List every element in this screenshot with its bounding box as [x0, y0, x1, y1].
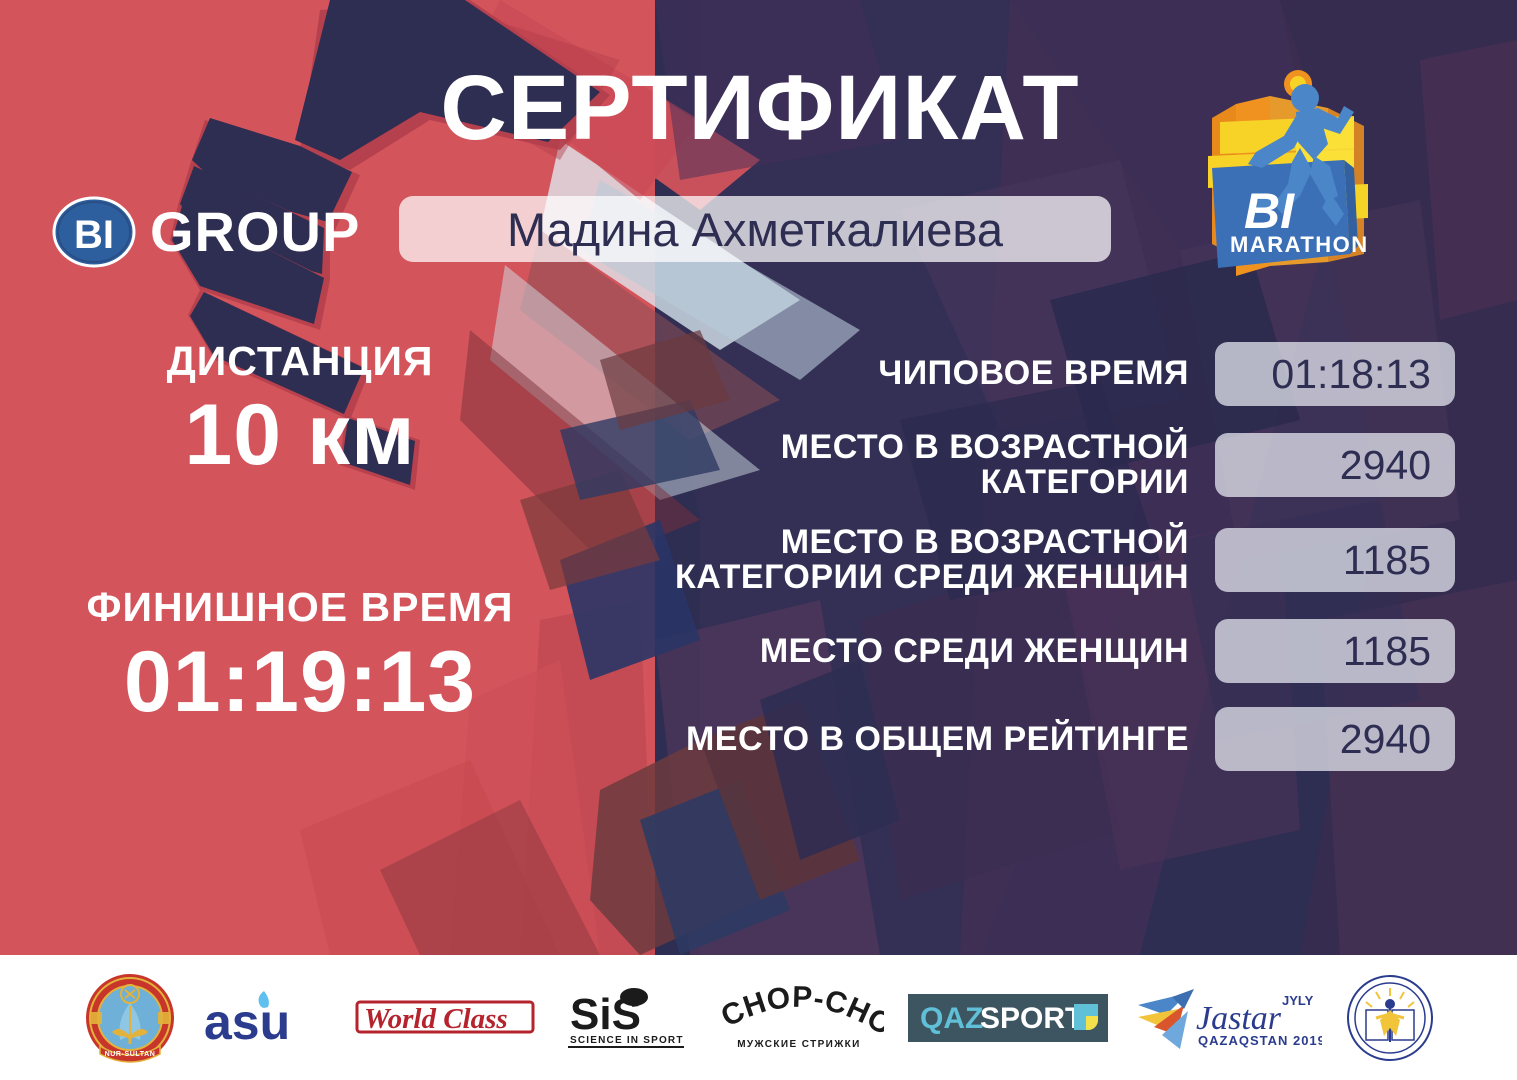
ministry-emblem-icon: [1346, 974, 1434, 1062]
sponsor-sis: SiS SCIENCE IN SPORT: [562, 985, 690, 1051]
chip-time-pill: 01:18:13: [1215, 342, 1455, 406]
chip-time-label: ЧИПОВОЕ ВРЕМЯ: [600, 356, 1189, 391]
marathon-logo-word: MARATHON: [1230, 232, 1369, 257]
distance-value: 10 км: [60, 389, 540, 482]
asu-logo-icon: asu: [200, 985, 328, 1051]
chop-chop-logo-icon: CHOP-CHOP МУЖСКИЕ СТРИЖКИ: [714, 985, 884, 1051]
marathon-logo-bi: BI: [1244, 183, 1295, 239]
chop-chop-sublabel: МУЖСКИЕ СТРИЖКИ: [737, 1039, 861, 1050]
age-category-women-place-label: МЕСТО В ВОЗРАСТНОЙ КАТЕГОРИИ СРЕДИ ЖЕНЩИ…: [600, 525, 1189, 596]
women-place-label: МЕСТО СРЕДИ ЖЕНЩИН: [600, 634, 1189, 669]
age-category-place-value: 2940: [1340, 445, 1431, 486]
finish-time-label: ФИНИШНОЕ ВРЕМЯ: [60, 586, 540, 629]
sponsor-world-class: World Class: [352, 989, 538, 1047]
right-stats-column: ЧИПОВОЕ ВРЕМЯ 01:18:13 МЕСТО В ВОЗРАСТНО…: [600, 342, 1455, 771]
certificate-title: СЕРТИФИКАТ: [390, 62, 1130, 154]
qazsport-qaz: QAZ: [920, 1002, 983, 1035]
sponsor-jastar-jyly: Jastar JYLY QAZAQSTAN 2019: [1132, 983, 1322, 1053]
qazsport-logo-icon: QAZ SPORT: [908, 994, 1108, 1042]
left-stat-distance: ДИСТАНЦИЯ 10 км: [60, 340, 540, 482]
chip-time-value: 01:18:13: [1271, 354, 1431, 395]
jastar-sublabel: QAZAQSTAN 2019: [1198, 1033, 1322, 1048]
sponsor-footer: NUR-SULTAN asu World Class SiS SCIENCE I…: [0, 955, 1517, 1080]
sponsor-asu: asu: [200, 985, 328, 1051]
svg-text:BI: BI: [74, 213, 114, 257]
overall-place-value: 2940: [1340, 719, 1431, 760]
left-stats-column: ДИСТАНЦИЯ 10 км ФИНИШНОЕ ВРЕМЯ 01:19:13: [60, 340, 540, 729]
women-place-pill: 1185: [1215, 619, 1455, 683]
sis-sublabel: SCIENCE IN SPORT: [570, 1035, 684, 1046]
sis-wordmark: SiS: [570, 990, 641, 1039]
age-category-women-place-pill: 1185: [1215, 528, 1455, 592]
women-place-value: 1185: [1343, 631, 1431, 672]
sponsor-nur-sultan-emblem: NUR-SULTAN: [84, 972, 176, 1064]
bi-group-wordmark: GROUP: [150, 204, 360, 260]
nur-sultan-label: NUR-SULTAN: [104, 1051, 155, 1058]
sis-logo-icon: SiS SCIENCE IN SPORT: [562, 985, 690, 1051]
certificate-canvas: BI GROUP СЕРТИФИКАТ Мадина Ахметкалиева: [0, 0, 1517, 1080]
world-class-logo-icon: World Class: [352, 989, 538, 1047]
jastar-wordmark: Jastar: [1196, 1000, 1282, 1037]
bi-group-mark-icon: BI: [52, 196, 136, 268]
jyly-superlabel: JYLY: [1282, 993, 1314, 1008]
overall-place-pill: 2940: [1215, 707, 1455, 771]
qazsport-sport: SPORT: [980, 1002, 1083, 1035]
overall-place-label: МЕСТО В ОБЩЕМ РЕЙТИНГЕ: [600, 722, 1189, 757]
sponsor-chop-chop: CHOP-CHOP МУЖСКИЕ СТРИЖКИ: [714, 985, 884, 1051]
bi-group-logo: BI GROUP: [52, 196, 360, 268]
stat-row-women-place: МЕСТО СРЕДИ ЖЕНЩИН 1185: [600, 619, 1455, 683]
world-class-wordmark: World Class: [364, 1003, 508, 1035]
nur-sultan-emblem-icon: NUR-SULTAN: [84, 972, 176, 1064]
jastar-jyly-logo-icon: Jastar JYLY QAZAQSTAN 2019: [1132, 983, 1322, 1053]
age-category-place-pill: 2940: [1215, 433, 1455, 497]
distance-label: ДИСТАНЦИЯ: [60, 340, 540, 383]
age-category-place-label: МЕСТО В ВОЗРАСТНОЙ КАТЕГОРИИ: [600, 430, 1189, 501]
asu-wordmark: asu: [204, 994, 290, 1050]
sponsor-qazsport: QAZ SPORT: [908, 994, 1108, 1042]
left-stat-finish-time: ФИНИШНОЕ ВРЕМЯ 01:19:13: [60, 586, 540, 728]
finish-time-value: 01:19:13: [60, 636, 540, 729]
chop-chop-wordmark: CHOP-CHOP: [714, 985, 884, 1042]
stat-row-overall-place: МЕСТО В ОБЩЕМ РЕЙТИНГЕ 2940: [600, 707, 1455, 771]
sponsor-ministry-emblem: [1346, 974, 1434, 1062]
participant-name-badge: Мадина Ахметкалиева: [399, 196, 1111, 262]
participant-name: Мадина Ахметкалиева: [507, 206, 1003, 253]
stat-row-age-category-place: МЕСТО В ВОЗРАСТНОЙ КАТЕГОРИИ 2940: [600, 430, 1455, 501]
stat-row-chip-time: ЧИПОВОЕ ВРЕМЯ 01:18:13: [600, 342, 1455, 406]
age-category-women-place-value: 1185: [1343, 540, 1431, 581]
bi-marathon-logo: BI MARATHON: [1178, 56, 1408, 306]
stat-row-age-category-women-place: МЕСТО В ВОЗРАСТНОЙ КАТЕГОРИИ СРЕДИ ЖЕНЩИ…: [600, 525, 1455, 596]
